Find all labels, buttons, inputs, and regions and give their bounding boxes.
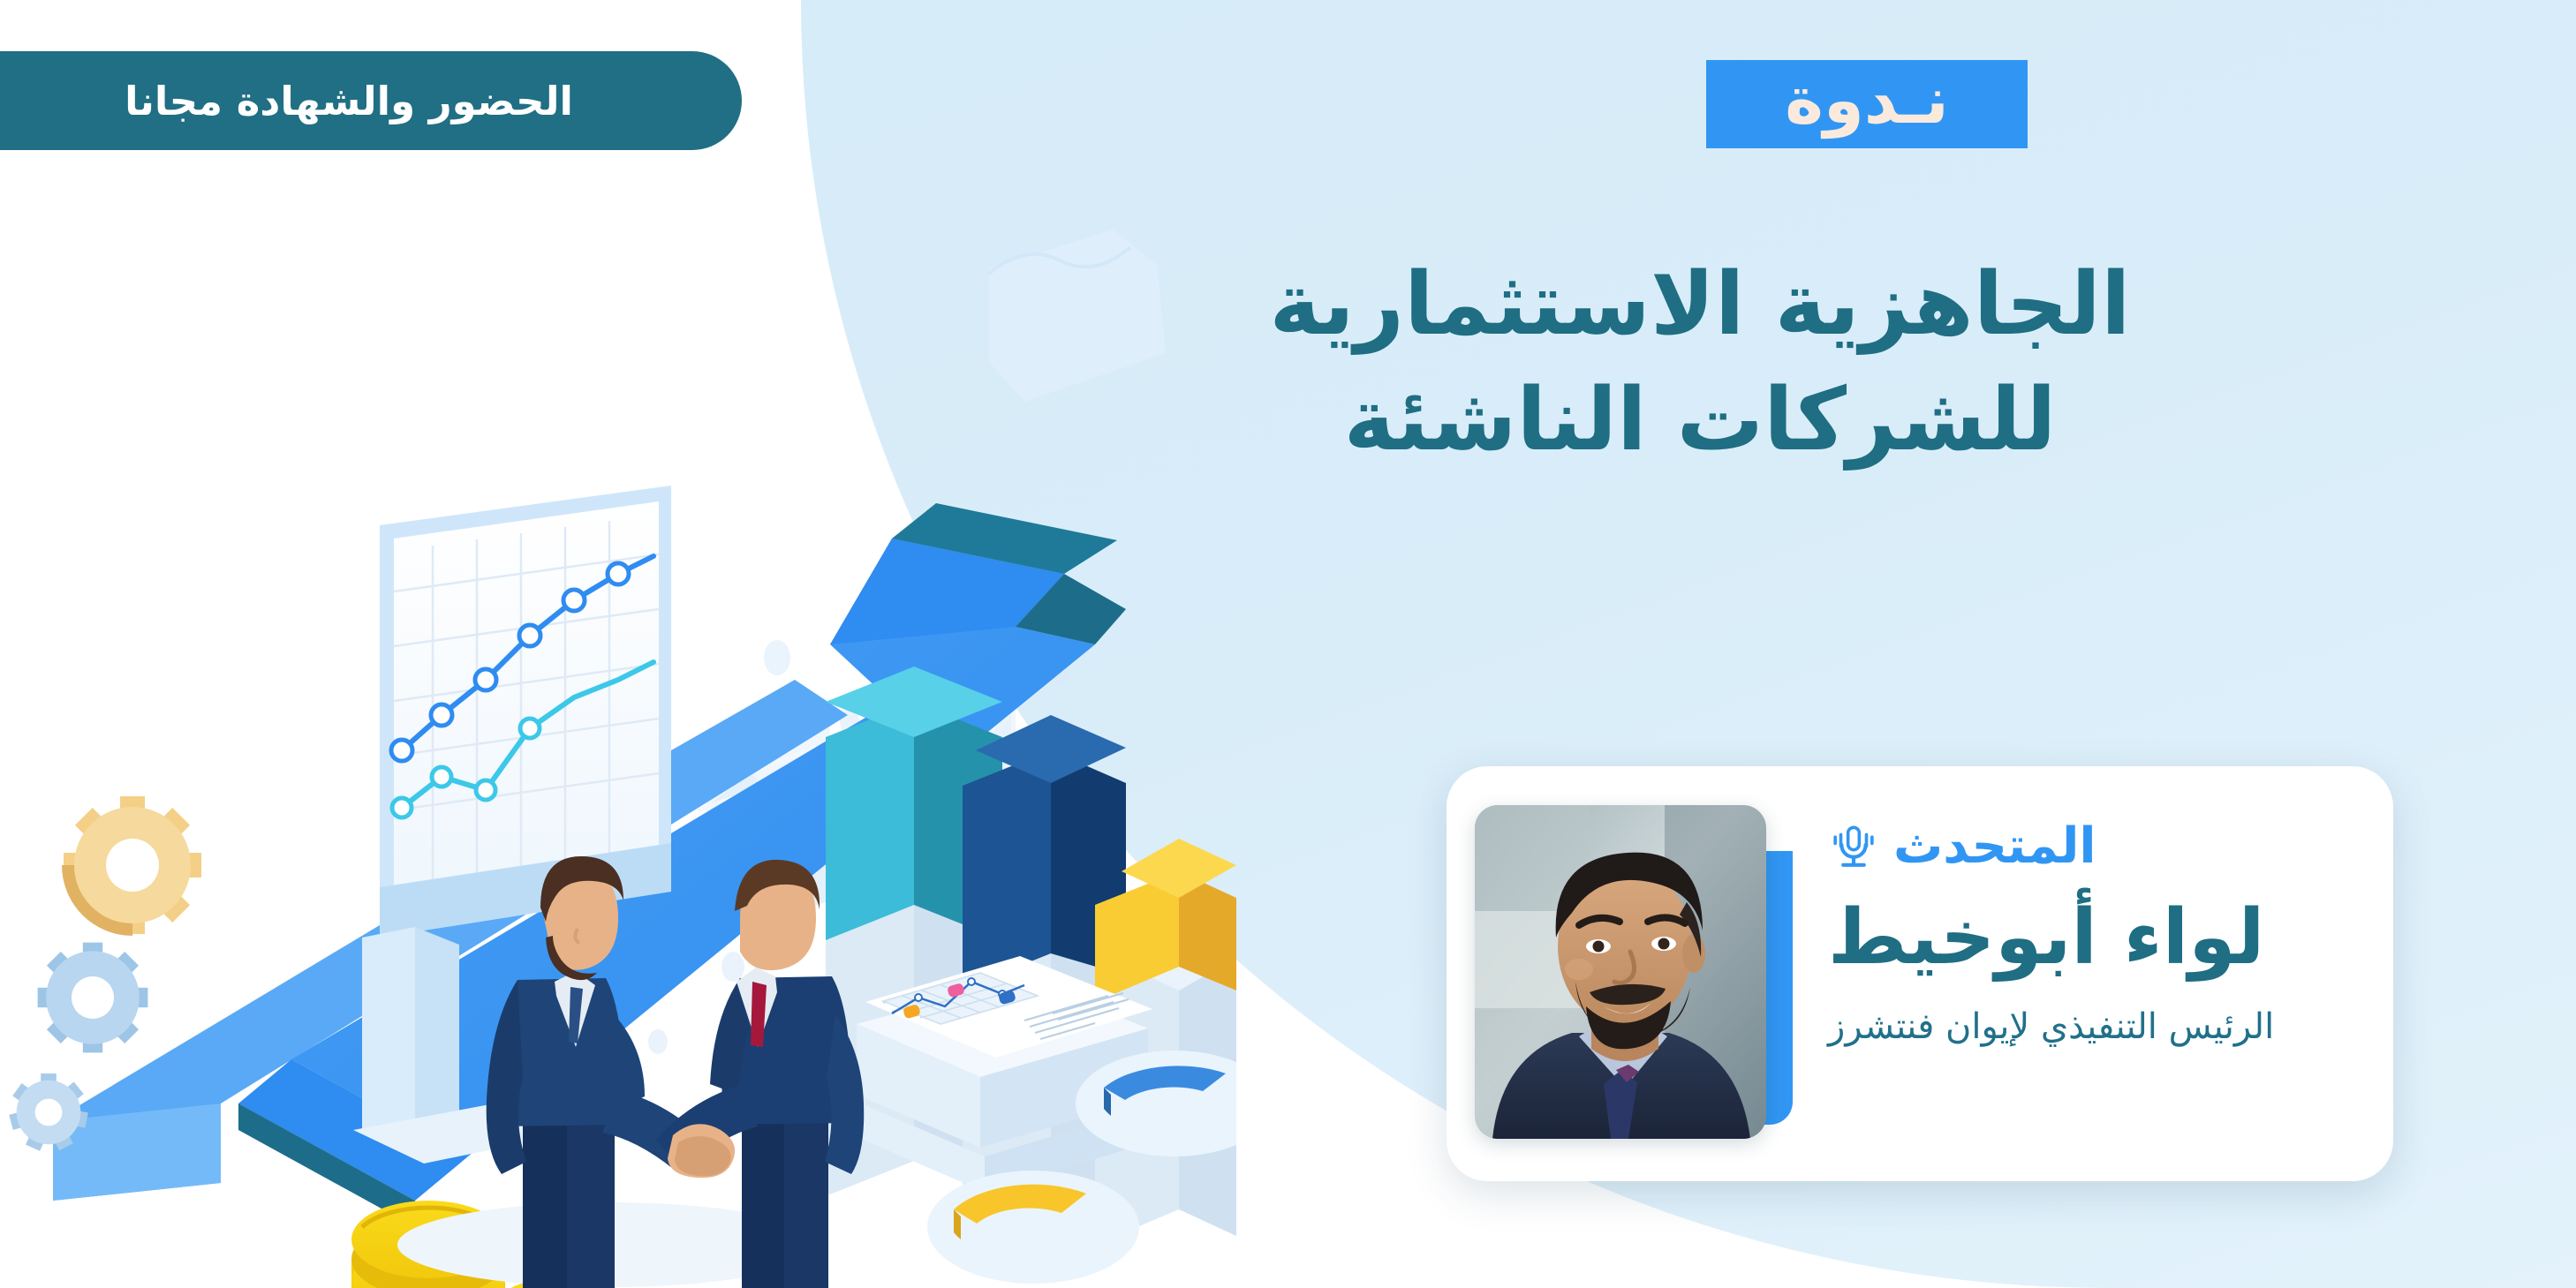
speaker-job-title: الرئيس التنفيذي لإيوان فنتشرز xyxy=(1828,1005,2274,1049)
speaker-card-inner: المتحدث لواء أبوخيط الرئيس التنفيذي لإيو… xyxy=(1447,766,2393,1181)
speaker-label-row: المتحدث xyxy=(1828,821,2096,872)
speaker-card: المتحدث لواء أبوخيط الرئيس التنفيذي لإيو… xyxy=(1447,766,2393,1181)
event-title-line-1: الجاهزية الاستثمارية xyxy=(1016,247,2384,363)
speaker-photo xyxy=(1475,805,1766,1139)
gear-gold xyxy=(62,796,201,936)
event-title: الجاهزية الاستثمارية للشركات الناشئة xyxy=(1016,247,2384,479)
speaker-portrait xyxy=(1475,805,1766,1139)
speaker-label: المتحدث xyxy=(1893,822,2096,871)
microphone-icon xyxy=(1828,821,1879,872)
speaker-name: لواء أبوخيط xyxy=(1828,895,2264,980)
gear-blue xyxy=(38,943,148,1053)
seminar-type-badge-text: نـدوة xyxy=(1785,68,1949,133)
seminar-type-badge: نـدوة xyxy=(1706,60,2028,148)
poster-canvas: الحضور والشهادة مجانا نـدوة الجاهزية الا… xyxy=(0,0,2576,1288)
free-attendance-badge-text: الحضور والشهادة مجانا xyxy=(125,81,573,121)
speaker-info: المتحدث لواء أبوخيط الرئيس التنفيذي لإيو… xyxy=(1828,766,2393,1181)
free-attendance-badge: الحضور والشهادة مجانا xyxy=(0,51,742,150)
event-title-line-2: للشركات الناشئة xyxy=(1016,363,2384,478)
